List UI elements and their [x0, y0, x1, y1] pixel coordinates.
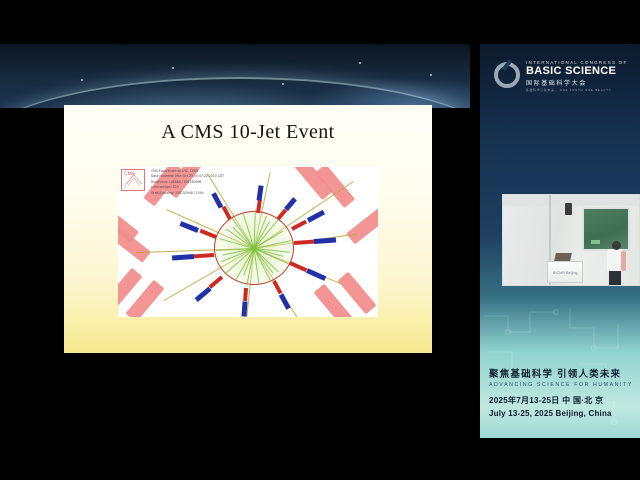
letterbox-top	[0, 0, 640, 44]
star-dot	[430, 74, 432, 76]
hcal-tower	[257, 185, 264, 201]
laptop	[554, 253, 572, 261]
star-dot	[172, 67, 174, 69]
cms-logo-icon: CMS	[121, 169, 145, 191]
speaker-head	[612, 241, 621, 250]
event-metadata-block: CMS Experiment at LHC, CERN Data recorde…	[151, 169, 224, 196]
blackboard	[582, 207, 630, 251]
presentation-slide: A CMS 10-Jet Event	[64, 105, 432, 353]
hcal-tower	[279, 293, 291, 309]
muon-chamber	[346, 208, 378, 245]
ecal-tower	[194, 253, 214, 258]
ecal-tower	[272, 280, 282, 294]
ecal-tower	[294, 240, 314, 245]
ceiling-speaker-icon	[565, 203, 572, 215]
slide-title: A CMS 10-Jet Event	[64, 121, 432, 144]
event-date-english: July 13-25, 2025 Beijing, China	[489, 409, 639, 418]
hall-backdrop-image	[0, 44, 478, 108]
speaker-legs	[609, 269, 621, 286]
congress-logo-mark-icon	[494, 62, 520, 88]
speaker-camera-feed[interactable]: BICMR Beijing	[502, 194, 640, 286]
slogan-chinese: 聚焦基础科学 引领人类未来	[489, 366, 639, 380]
branding-sidebar: INTERNATIONAL CONGRESS OF BASIC SCIENCE …	[478, 44, 640, 438]
star-dot	[359, 62, 361, 64]
stream-viewport: A CMS 10-Jet Event	[0, 0, 640, 480]
logo-title: BASIC SCIENCE	[526, 65, 628, 77]
star-dot	[81, 79, 83, 81]
panel-divider	[470, 44, 480, 438]
event-date-chinese: 2025年7月13-25日 中 国·北 京	[489, 395, 639, 406]
hcal-tower	[195, 287, 212, 302]
ecal-tower	[276, 209, 287, 221]
hcal-tower	[307, 210, 325, 223]
ecal-tower	[208, 275, 223, 288]
ecal-tower	[289, 261, 307, 272]
slogan-english: ADVANCING SCIENCE FOR HUMANITY	[489, 382, 639, 388]
earth-horizon-arc	[0, 77, 478, 108]
letterbox-bottom	[0, 438, 640, 480]
logo-subline: 基础科学引领未来 · ONE TRUTH ONE BEAUTY	[526, 88, 628, 92]
congress-slogan-block: 聚焦基础科学 引领人类未来 ADVANCING SCIENCE FOR HUMA…	[489, 366, 639, 418]
event-meta-line: Orbit/Crossing: 139152948 / 1594	[151, 191, 224, 196]
podium: BICMR Beijing	[547, 261, 583, 283]
projected-slide-region: A CMS 10-Jet Event	[0, 44, 478, 438]
congress-logo-text: INTERNATIONAL CONGRESS OF BASIC SCIENCE …	[526, 60, 628, 92]
congress-logo: INTERNATIONAL CONGRESS OF BASIC SCIENCE …	[494, 60, 628, 94]
hcal-tower	[172, 254, 194, 261]
hcal-tower	[314, 237, 336, 244]
podium-label: BICMR Beijing	[553, 271, 578, 275]
hcal-tower	[284, 197, 297, 211]
cms-event-display-image: CMS CMS Experiment at LHC, CERN Data rec…	[118, 167, 378, 317]
hcal-tower	[241, 301, 247, 316]
logo-title-cn: 国际基础科学大会	[526, 78, 628, 87]
hcal-tower	[306, 268, 326, 281]
blackboard-note	[591, 240, 600, 244]
speaker-arm	[621, 251, 626, 271]
